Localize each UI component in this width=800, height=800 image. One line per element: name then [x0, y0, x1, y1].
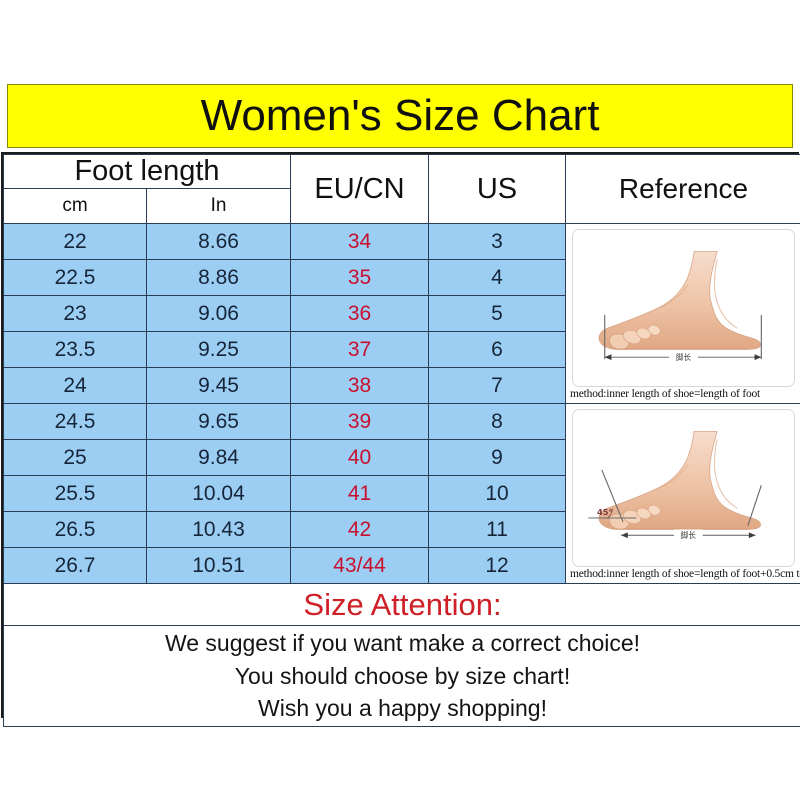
- reference-image-bottom: 45° 脚长: [566, 404, 800, 583]
- cell-eu: 41: [291, 476, 429, 512]
- suggestion-line-1: We suggest if you want make a correct ch…: [4, 627, 800, 660]
- cell-us: 6: [429, 332, 566, 368]
- header-us: US: [429, 155, 566, 224]
- cell-eu: 35: [291, 260, 429, 296]
- header-foot-length: Foot length: [4, 155, 291, 189]
- cell-us: 3: [429, 224, 566, 260]
- cell-cm: 26.7: [4, 548, 147, 584]
- reference-caption-top: method:inner length of shoe=length of fo…: [566, 387, 800, 403]
- cell-us: 12: [429, 548, 566, 584]
- cell-eu: 37: [291, 332, 429, 368]
- cell-cm: 23.5: [4, 332, 147, 368]
- cell-us: 11: [429, 512, 566, 548]
- suggestion-row: We suggest if you want make a correct ch…: [4, 626, 800, 727]
- table-row: 24.5 9.65 39 8: [4, 404, 800, 440]
- reference-image-bottom-cell: 45° 脚长: [566, 404, 800, 584]
- table-header-row-primary: Foot length EU/CN US Reference: [4, 155, 800, 189]
- suggestion-line-3: Wish you a happy shopping!: [4, 692, 800, 725]
- cell-us: 10: [429, 476, 566, 512]
- cell-cm: 25: [4, 440, 147, 476]
- cell-us: 8: [429, 404, 566, 440]
- foot-diagram-bottom: 45° 脚长: [573, 410, 794, 566]
- header-eu-cn: EU/CN: [291, 155, 429, 224]
- cell-eu: 40: [291, 440, 429, 476]
- header-unit-cm: cm: [4, 189, 147, 224]
- cell-us: 9: [429, 440, 566, 476]
- suggestion-line-2: You should choose by size chart!: [4, 660, 800, 693]
- suggestion-block: We suggest if you want make a correct ch…: [4, 626, 800, 727]
- cell-cm: 24: [4, 368, 147, 404]
- header-unit-in: In: [147, 189, 291, 224]
- size-chart-table: Foot length EU/CN US Reference cm In 22 …: [3, 154, 800, 727]
- cell-eu: 38: [291, 368, 429, 404]
- reference-caption-bottom: method:inner length of shoe=length of fo…: [566, 567, 800, 583]
- cell-in: 9.45: [147, 368, 291, 404]
- cell-in: 9.84: [147, 440, 291, 476]
- cell-cm: 22.5: [4, 260, 147, 296]
- cell-us: 5: [429, 296, 566, 332]
- cell-us: 7: [429, 368, 566, 404]
- cell-cm: 22: [4, 224, 147, 260]
- reference-image-top: 脚长 method:inner length of shoe=length of…: [566, 224, 800, 403]
- reference-image-top-cell: 脚长 method:inner length of shoe=length of…: [566, 224, 800, 404]
- cell-cm: 24.5: [4, 404, 147, 440]
- size-attention-row: Size Attention:: [4, 584, 800, 626]
- size-attention-heading: Size Attention:: [4, 584, 800, 626]
- cell-in: 9.25: [147, 332, 291, 368]
- table-row: 22 8.66 34 3: [4, 224, 800, 260]
- cell-cm: 25.5: [4, 476, 147, 512]
- chart-title-banner: Women's Size Chart: [7, 84, 793, 148]
- cell-us: 4: [429, 260, 566, 296]
- size-chart-page: Women's Size Chart Foot length EU/CN US …: [0, 0, 800, 800]
- cell-in: 10.43: [147, 512, 291, 548]
- header-reference: Reference: [566, 155, 800, 224]
- angle-label: 45°: [597, 507, 612, 517]
- cell-in: 9.65: [147, 404, 291, 440]
- cell-eu: 42: [291, 512, 429, 548]
- size-chart-table-wrapper: Foot length EU/CN US Reference cm In 22 …: [1, 152, 799, 718]
- cell-in: 8.86: [147, 260, 291, 296]
- cell-in: 10.51: [147, 548, 291, 584]
- cell-in: 10.04: [147, 476, 291, 512]
- measure-label-bottom: 脚长: [681, 530, 697, 540]
- foot-side-view-angle-icon: 45° 脚长: [572, 409, 795, 567]
- cell-in: 8.66: [147, 224, 291, 260]
- cell-cm: 26.5: [4, 512, 147, 548]
- page-title: Women's Size Chart: [201, 94, 600, 138]
- cell-in: 9.06: [147, 296, 291, 332]
- cell-cm: 23: [4, 296, 147, 332]
- cell-eu: 34: [291, 224, 429, 260]
- foot-diagram-top: 脚长: [573, 230, 794, 386]
- measure-label-top: 脚长: [676, 352, 692, 362]
- cell-eu: 39: [291, 404, 429, 440]
- cell-eu: 43/44: [291, 548, 429, 584]
- foot-side-view-icon: 脚长: [572, 229, 795, 387]
- cell-eu: 36: [291, 296, 429, 332]
